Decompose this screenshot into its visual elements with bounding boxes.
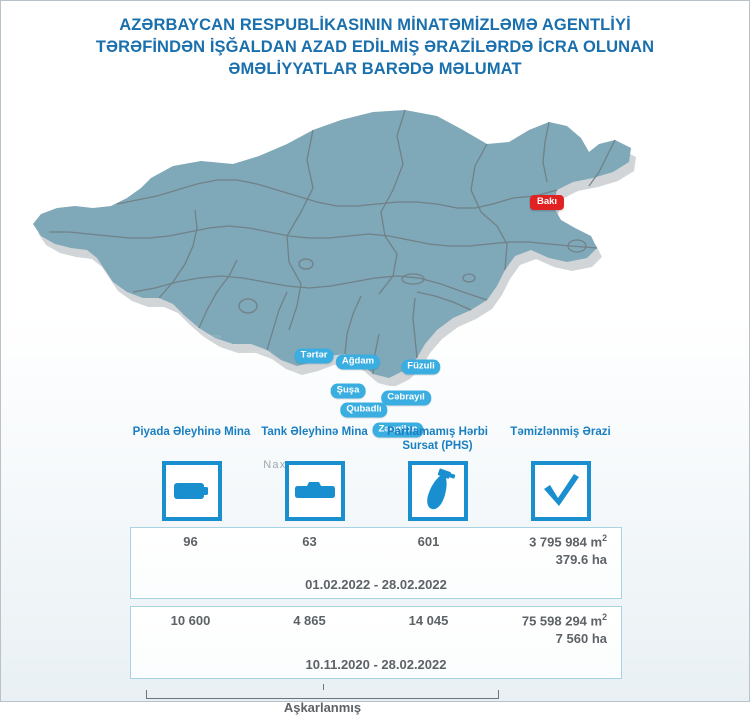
map-marker-baku[interactable]: Bakı [530, 195, 564, 228]
value-anti-personnel: 10 600 [131, 612, 250, 647]
value-anti-tank: 4 865 [250, 612, 369, 647]
value-cleared-area-m2: 75 598 294 m [522, 614, 602, 629]
stats-header-row: Piyada Əleyhinə Mina Tank Əleyhinə Mina … [130, 425, 622, 457]
checkmark-icon [540, 472, 582, 510]
stats-column-anti-tank: Tank Əleyhinə Mina [253, 425, 376, 457]
detected-bracket-label: Aşkarlanmış [146, 700, 499, 715]
title-line-2: TƏRƏFİNDƏN İŞĞALDAN AZAD EDİLMİŞ ƏRAZİLƏ… [29, 37, 721, 59]
value-cleared-area-m2: 3 795 984 m [529, 534, 602, 549]
svg-text:Goranboy: Goranboy [247, 350, 271, 356]
title-line-3: ƏMƏLİYYATLAR BARƏDƏ MƏLUMAT [29, 59, 721, 81]
svg-text:Xocavənd: Xocavənd [430, 378, 455, 386]
title-line-1: AZƏRBAYCAN RESPUBLİKASININ MİNATƏMİZLƏMƏ… [29, 15, 721, 37]
period-label-2: 10.11.2020 - 28.02.2022 [131, 657, 621, 672]
map-label-agdam[interactable]: Ağdam [336, 355, 380, 370]
page-title: AZƏRBAYCAN RESPUBLİKASININ MİNATƏMİZLƏMƏ… [1, 1, 749, 80]
value-cleared-area: 75 598 294 m2 7 560 ha [488, 612, 621, 647]
unexploded-ordnance-icon [418, 468, 458, 514]
bracket-center-tick [323, 684, 324, 690]
stats-column-cleared-area: Təmizlənmiş Ərazi [499, 425, 622, 457]
value-uxo: 14 045 [369, 612, 488, 647]
stats-column-header: Partlamamış Hərbi Sursat (PHS) [376, 425, 499, 457]
stats-icon-row [130, 461, 622, 521]
unexploded-ordnance-icon-box [408, 461, 468, 521]
map-label-susa[interactable]: Şuşa [331, 384, 366, 399]
anti-tank-mine-icon-box [285, 461, 345, 521]
stats-column-header: Tank Əleyhinə Mina [253, 425, 376, 457]
stats-column-header: Piyada Əleyhinə Mina [130, 425, 253, 457]
azerbaijan-map: Laçın Kəlbəcər Xocalı Goranboy Gədəbəy X… [1, 86, 750, 386]
value-anti-tank: 63 [250, 533, 369, 568]
value-cleared-area-ha: 7 560 ha [488, 630, 607, 648]
anti-personnel-mine-icon-box [162, 461, 222, 521]
svg-text:Gədəbəy: Gədəbəy [199, 334, 222, 340]
superscript-two: 2 [602, 533, 607, 543]
statistics-panel: Piyada Əleyhinə Mina Tank Əleyhinə Mina … [130, 425, 622, 720]
map-pin-tip-icon [530, 204, 538, 227]
detected-bracket [146, 690, 499, 699]
detected-bracket-group: Aşkarlanmış [130, 686, 622, 720]
stats-data-row-2: 10 600 4 865 14 045 75 598 294 m2 7 560 … [130, 606, 622, 678]
stats-data-row-1: 96 63 601 3 795 984 m2 379.6 ha 01.02.20… [130, 527, 622, 599]
map-land [33, 110, 631, 386]
value-anti-personnel: 96 [131, 533, 250, 568]
stats-column-header: Təmizlənmiş Ərazi [499, 425, 622, 457]
superscript-two: 2 [602, 612, 607, 622]
value-uxo: 601 [369, 533, 488, 568]
stats-column-anti-personnel: Piyada Əleyhinə Mina [130, 425, 253, 457]
map-label-terter[interactable]: Tərtər [295, 349, 334, 364]
map-label-fuzuli[interactable]: Füzuli [401, 360, 440, 375]
period-label-1: 01.02.2022 - 28.02.2022 [131, 577, 621, 592]
map-label-qubadli[interactable]: Qubadlı [340, 403, 387, 418]
anti-tank-mine-icon [293, 476, 337, 506]
map-label-cebrayil[interactable]: Cəbrayıl [381, 391, 431, 406]
checkmark-icon-box [531, 461, 591, 521]
stats-column-uxo: Partlamamış Hərbi Sursat (PHS) [376, 425, 499, 457]
value-cleared-area: 3 795 984 m2 379.6 ha [488, 533, 621, 568]
map-graphic: Laçın Kəlbəcər Xocalı Goranboy Gədəbəy X… [1, 86, 750, 386]
anti-personnel-mine-icon [172, 476, 212, 506]
value-cleared-area-ha: 379.6 ha [488, 551, 607, 569]
